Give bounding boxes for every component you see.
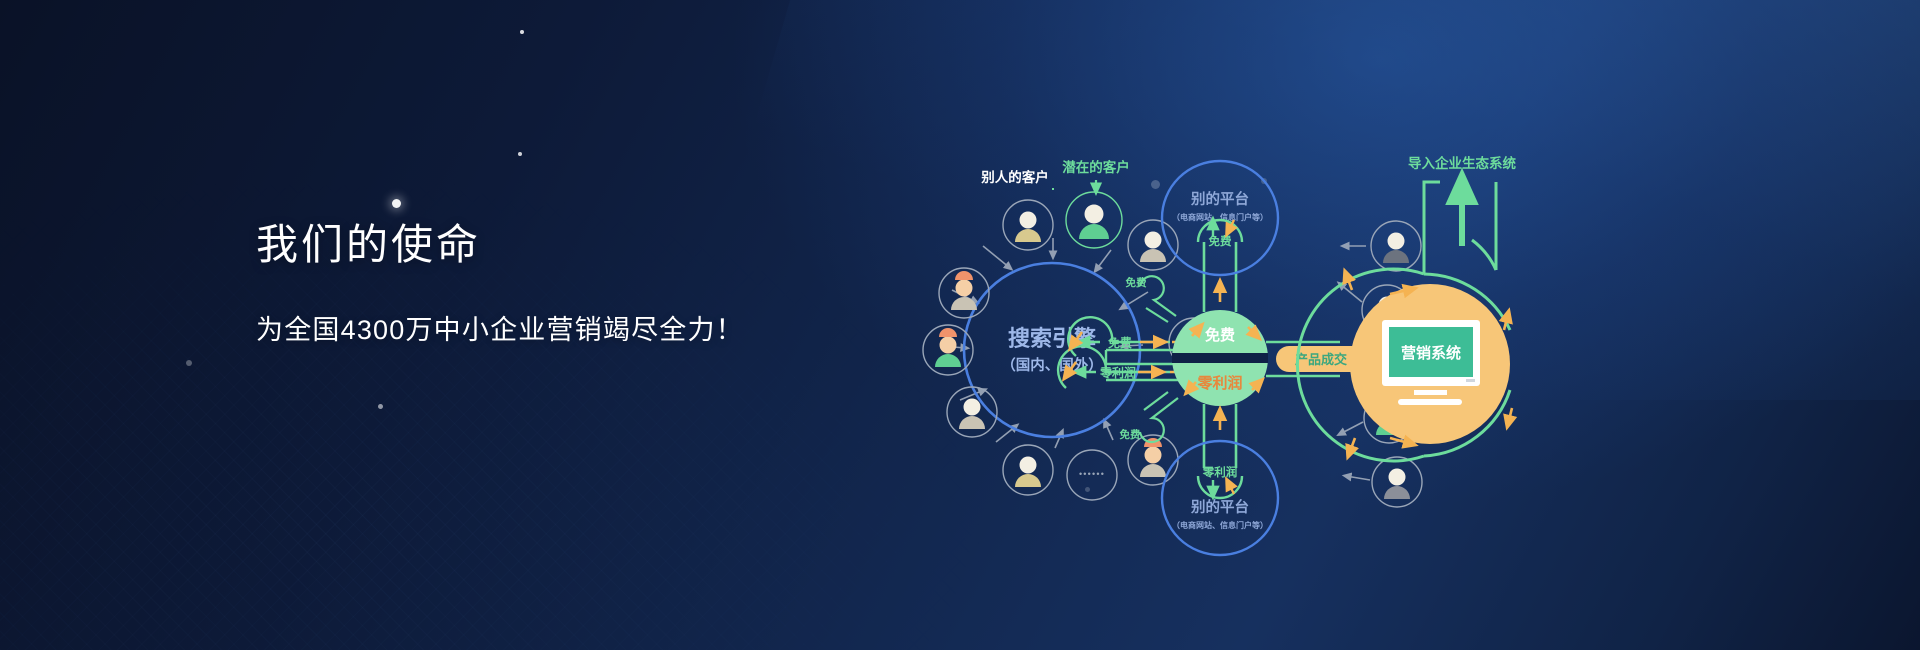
platform-node-top: 别的平台 （电商网站、信息门户等） 免费 xyxy=(1162,161,1278,275)
avatar xyxy=(923,325,973,375)
particle-dot xyxy=(518,152,522,156)
platform-bottom-subtitle: （电商网站、信息门户等） xyxy=(1172,520,1268,530)
product-deal-label: 产品成交 xyxy=(1295,352,1347,367)
import-ecosystem-group: 导入企业生态系统 xyxy=(1408,155,1516,274)
hub-top-label: 免费 xyxy=(1205,326,1235,344)
avatar-ellipsis: •••••• xyxy=(1079,469,1105,479)
label-others-customers: 别人的客户 xyxy=(980,169,1049,185)
marketing-system-label: 营销系统 xyxy=(1401,344,1461,362)
hero-copy: 我们的使命 为全国4300万中小企业营销竭尽全力！ xyxy=(256,222,744,347)
hub-bottom-label: 零利润 xyxy=(1196,374,1242,392)
particle-dot xyxy=(186,360,192,366)
platform-bottom-title: 别的平台 xyxy=(1190,498,1249,516)
hero-banner: 我们的使命 为全国4300万中小企业营销竭尽全力！ xyxy=(0,0,1920,650)
platform-bottom-tag: 零利润 xyxy=(1202,465,1238,479)
avatar xyxy=(1128,220,1178,270)
svg-text:免费: 免费 xyxy=(1126,276,1148,289)
avatar xyxy=(1003,200,1053,250)
svg-text:免费: 免费 xyxy=(1108,335,1132,350)
avatar xyxy=(1371,221,1421,271)
marketing-ecosystem-diagram: 搜索引擎 （国内、国外） xyxy=(900,150,1540,520)
avatar xyxy=(1003,445,1053,495)
page-subtitle: 为全国4300万中小企业营销竭尽全力！ xyxy=(256,308,744,347)
import-ecosystem-label: 导入企业生态系统 xyxy=(1408,155,1516,171)
hub-node: 免费 零利润 xyxy=(1172,310,1268,406)
page-title: 我们的使命 xyxy=(256,222,744,268)
svg-text:免费: 免费 xyxy=(1120,428,1142,441)
label-potential-customers: 潜在的客户 xyxy=(1062,159,1130,175)
svg-text:零利润: 零利润 xyxy=(1099,365,1136,380)
platform-top-title: 别的平台 xyxy=(1190,190,1249,208)
search-engine-title: 搜索引擎 xyxy=(1008,326,1096,351)
particle-dot xyxy=(392,199,401,208)
particle-dot xyxy=(378,404,383,409)
avatar xyxy=(939,268,989,318)
avatar-placeholder: •••••• xyxy=(1067,450,1117,500)
branch-tag-free-lower: 免费 xyxy=(1120,392,1179,442)
avatar xyxy=(1372,457,1422,507)
avatar xyxy=(1066,192,1122,248)
particle-dot xyxy=(520,30,524,34)
platform-top-tag: 免费 xyxy=(1209,234,1232,248)
platform-node-bottom: 零利润 别的平台 （电商网站、信息门户等） xyxy=(1162,441,1278,555)
